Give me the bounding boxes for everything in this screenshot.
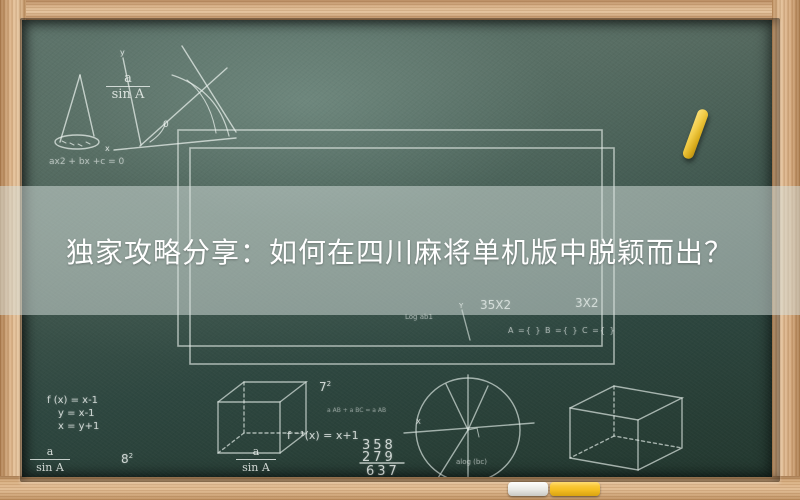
white-chalk-stick[interactable] — [508, 482, 548, 496]
frame-top-rail — [0, 0, 800, 20]
banner-image: a sin A ax2 + bx +c = 0 y x 0 f (x) = x-… — [0, 0, 800, 500]
yellow-chalk-stick[interactable] — [550, 482, 600, 496]
page-title: 独家攻略分享：如何在四川麻将单机版中脱颖而出？ — [0, 186, 800, 315]
